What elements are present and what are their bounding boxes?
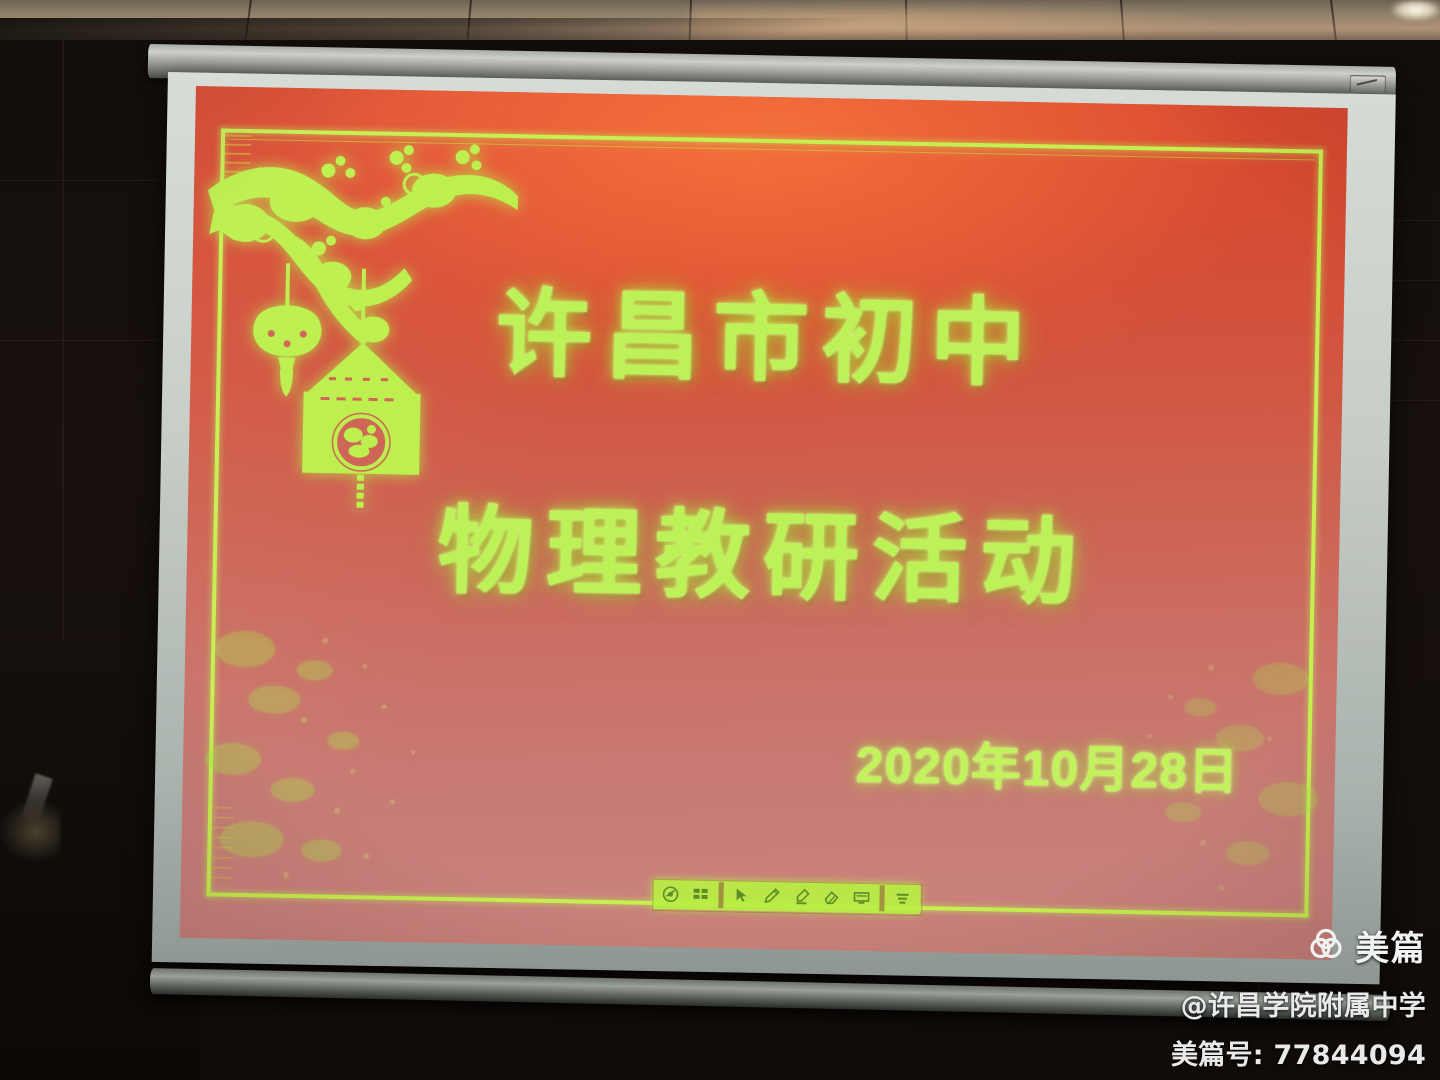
eraser-icon[interactable] [816,884,846,911]
watermark-brand: 美篇 [1355,921,1426,970]
more-options-icon[interactable] [887,885,917,912]
watermark: 美篇 @许昌学院附属中学 美篇号: 77844094 [1171,921,1426,1072]
highlighter-icon[interactable] [786,883,816,910]
projected-slide: 许昌市初中 物理教研活动 2020年10月28日 [180,86,1348,960]
presentation-toolbar[interactable] [652,879,921,914]
wall-fixture [0,800,60,862]
pen-icon[interactable] [756,883,786,910]
meipian-trefoil-logo-icon [1306,924,1346,968]
toolbar-separator-2 [879,885,884,911]
photo-scene: 许昌市初中 物理教研活动 2020年10月28日 [0,0,1440,1080]
toolbar-group-right [726,882,876,911]
toolbar-group-left [655,881,715,908]
pointer-options-icon[interactable] [655,881,685,908]
foliage-texture-left [200,608,566,915]
slide-title-line-1: 许昌市初中 [190,250,1344,411]
roller-end-cap [1350,75,1386,94]
watermark-handle: @许昌学院附属中学 [1171,984,1426,1023]
slide-date: 2020年10月28日 [855,725,1240,804]
display-settings-icon[interactable] [846,885,876,912]
arrow-pointer-icon[interactable] [726,882,756,909]
watermark-id: 美篇号: 77844094 [1171,1033,1426,1072]
slide-title-line-2: 物理教研活动 [186,468,1340,629]
watermark-logo-row: 美篇 [1171,921,1426,970]
ceiling-light [1392,0,1440,20]
corner-stitch-mark-bottom [211,806,235,886]
slide-menu-icon[interactable] [685,882,715,909]
toolbar-separator [718,882,723,908]
